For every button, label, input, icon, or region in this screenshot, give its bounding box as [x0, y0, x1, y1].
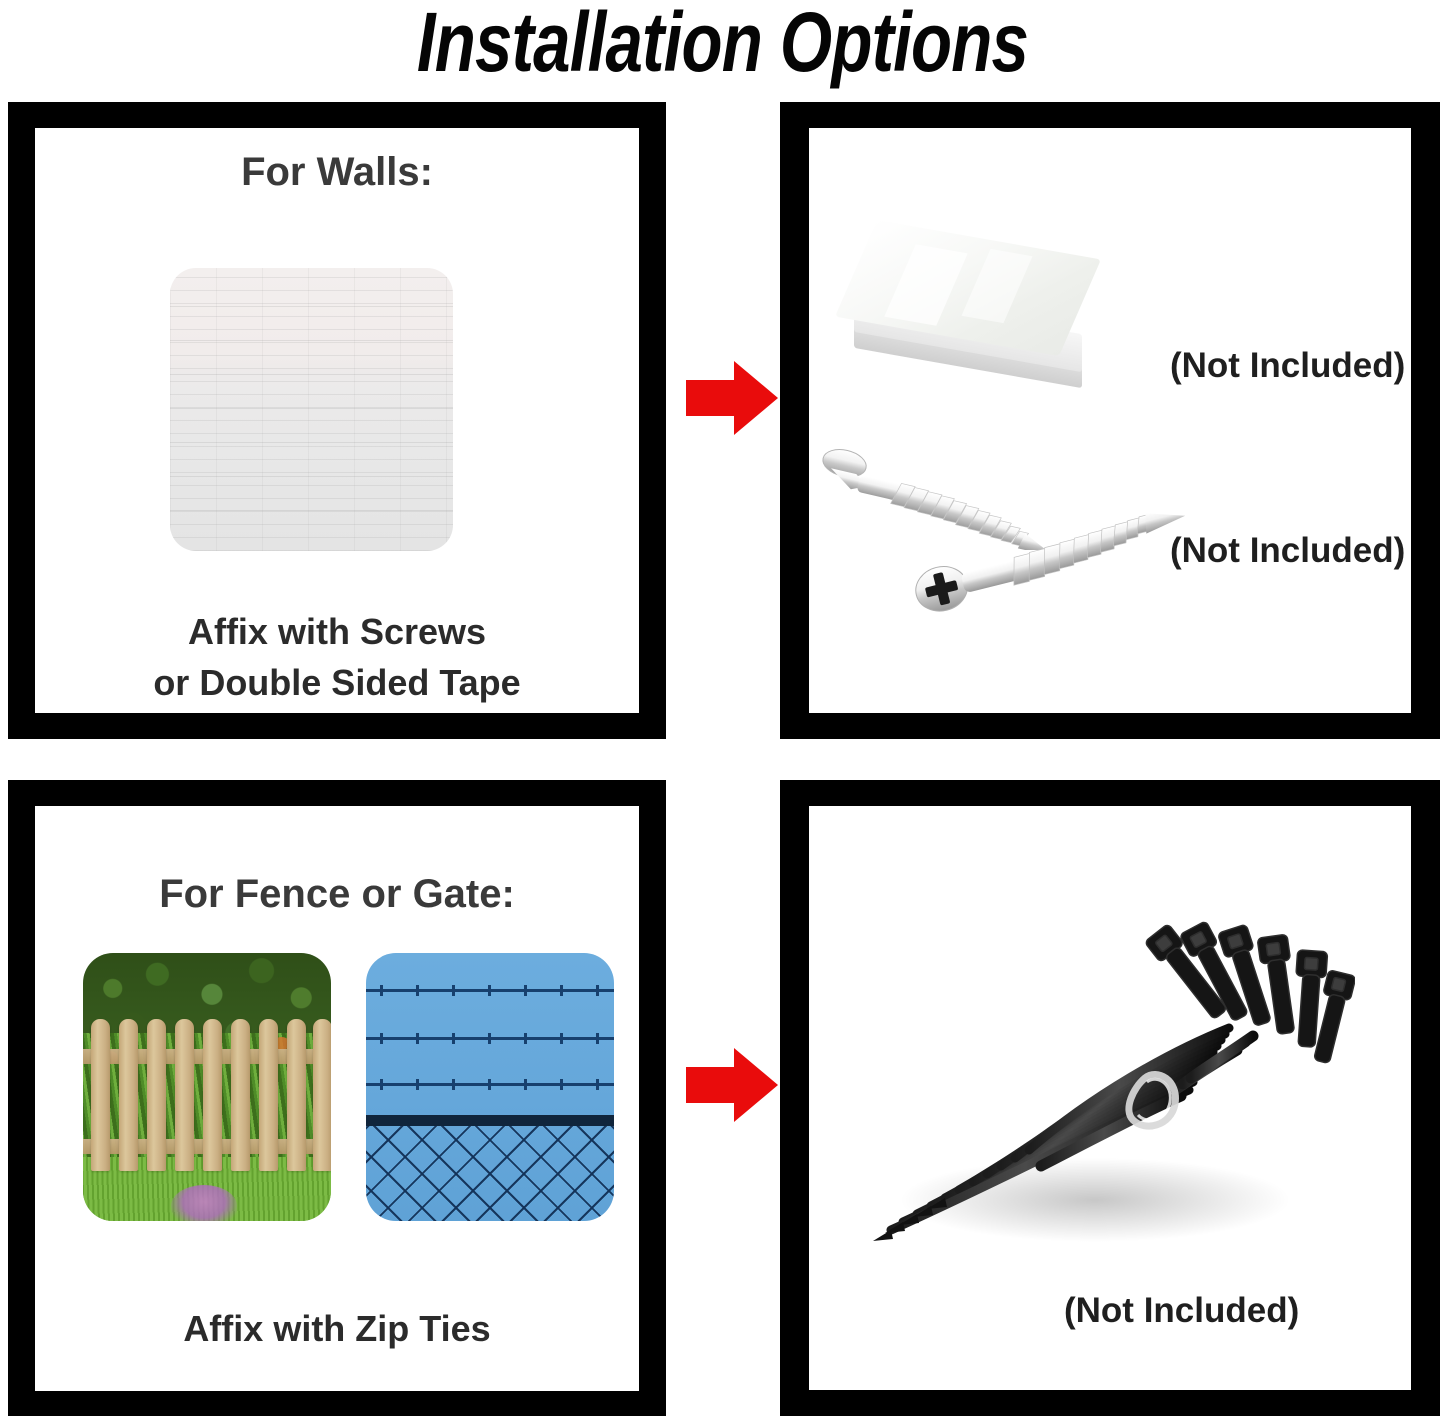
page-title: Installation Options — [145, 0, 1301, 88]
right-arrow-icon-top — [686, 361, 778, 435]
installation-options-infographic: Installation Options For Walls: Affix wi… — [0, 0, 1445, 1422]
screw-not-included-label: (Not Included) — [1170, 531, 1405, 571]
right-arrow-icon-bottom — [686, 1048, 778, 1122]
panel-fence-hardware: (Not Included) — [780, 780, 1440, 1416]
black-zip-tie-bundle-icon — [845, 900, 1355, 1280]
panel-for-fence-content: For Fence or Gate: — [35, 806, 639, 1391]
walls-caption-line1: Affix with Screws — [35, 606, 639, 657]
panel-for-walls-content: For Walls: Affix with Screws or Double S… — [35, 128, 639, 713]
chain-link-barbed-wire-fence-photo — [366, 953, 614, 1221]
fence-caption: Affix with Zip Ties — [35, 1303, 639, 1354]
panel-for-walls: For Walls: Affix with Screws or Double S… — [8, 102, 666, 739]
panel-for-fence-or-gate: For Fence or Gate: — [8, 780, 666, 1416]
double-sided-tape-stack-icon — [848, 228, 1098, 393]
walls-caption-line2: or Double Sided Tape — [35, 657, 639, 708]
panel-wall-hardware-content: (Not Included) — [809, 128, 1411, 713]
ziptie-not-included-label: (Not Included) — [1064, 1291, 1299, 1331]
for-fence-heading: For Fence or Gate: — [35, 872, 639, 917]
wood-screw-icon-2 — [900, 512, 1200, 632]
panel-wall-hardware: (Not Included) — [780, 102, 1440, 739]
for-walls-heading: For Walls: — [35, 150, 639, 195]
white-brick-wall-photo — [170, 268, 453, 551]
tape-not-included-label: (Not Included) — [1170, 346, 1405, 386]
panel-fence-hardware-content: (Not Included) — [809, 806, 1411, 1390]
wooden-picket-fence-photo — [83, 953, 331, 1221]
